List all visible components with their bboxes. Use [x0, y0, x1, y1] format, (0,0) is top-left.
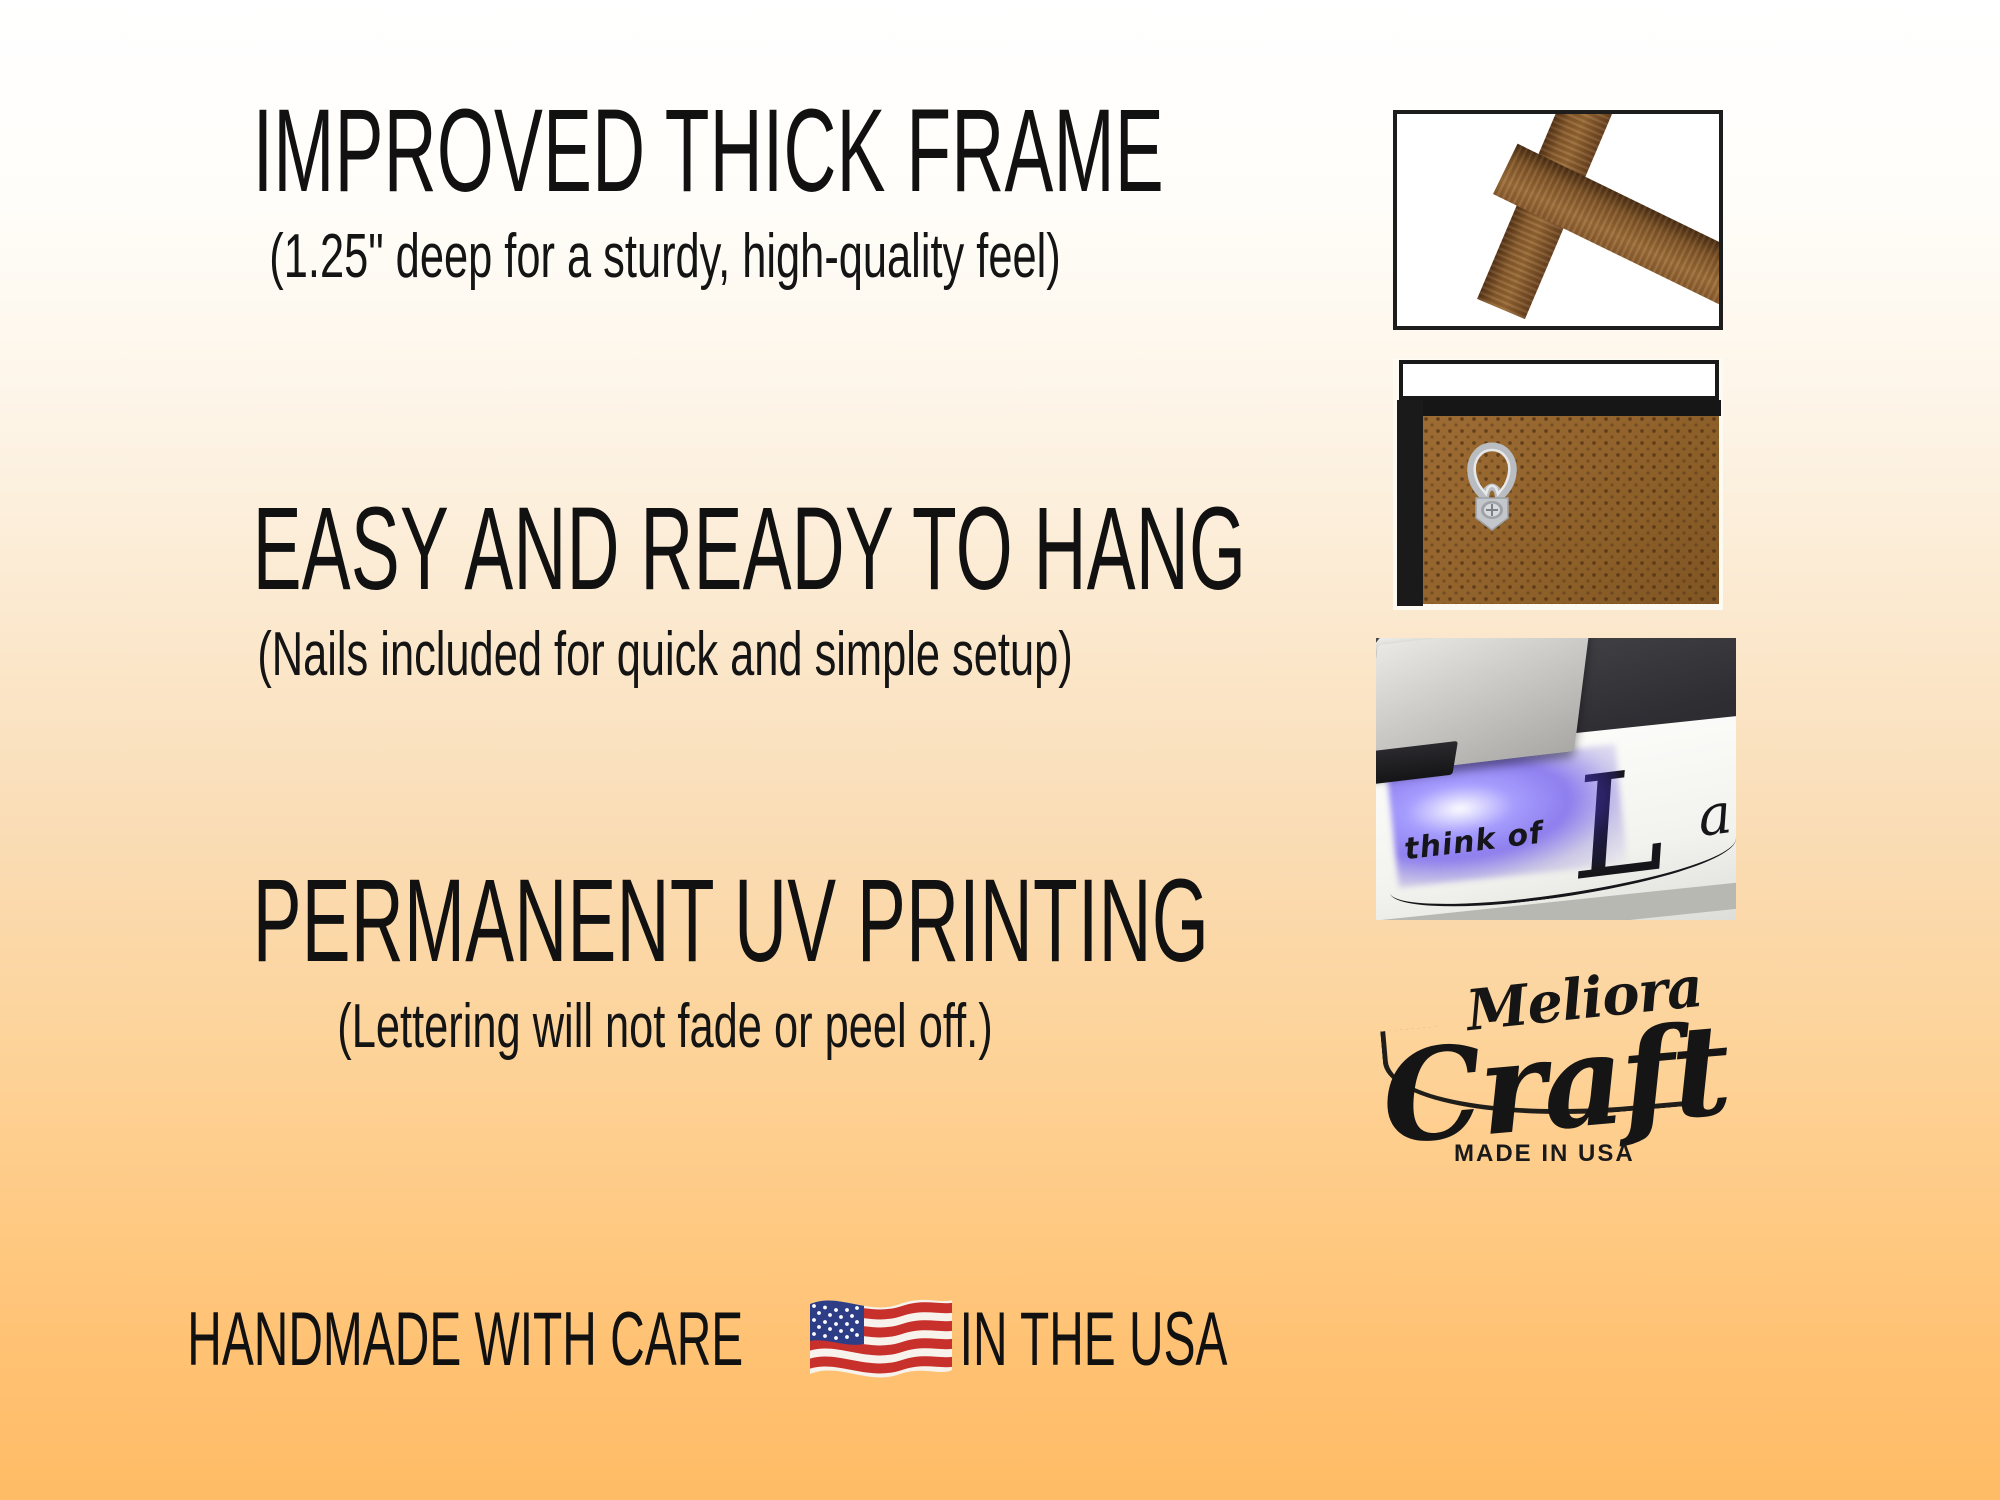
frame-back-left-rail	[1397, 400, 1423, 606]
product-photos-column: L a think of Meliora Craft MADE IN USA	[1330, 0, 2000, 1500]
photo-frame-back-hanger	[1393, 358, 1723, 610]
feature-block-thick-frame: IMPROVED THICK FRAME (1.25" deep for a s…	[0, 92, 1330, 288]
frame-back-top-edge	[1399, 360, 1719, 400]
features-column: IMPROVED THICK FRAME (1.25" deep for a s…	[0, 0, 1330, 1500]
usa-flag-icon	[806, 1292, 956, 1388]
footer-text-after-flag: IN THE USA	[960, 1302, 1228, 1378]
feature-block-ready-to-hang: EASY AND READY TO HANG (Nails included f…	[0, 490, 1330, 686]
photo-frame-corner	[1393, 110, 1723, 330]
feature-subtitle: (1.25" deep for a sturdy, high-quality f…	[200, 210, 1131, 288]
uv-print-letter-a: a	[1695, 786, 1735, 846]
handmade-in-usa-footer: HANDMADE WITH CARE	[0, 1292, 1330, 1388]
frame-back-black-bar	[1397, 400, 1721, 416]
product-feature-infographic: IMPROVED THICK FRAME (1.25" deep for a s…	[0, 0, 2000, 1500]
photo-uv-printer: L a think of	[1376, 638, 1736, 920]
feature-headline: PERMANENT UV PRINTING	[253, 862, 1078, 980]
brand-logo: Meliora Craft MADE IN USA	[1358, 952, 1778, 1182]
footer-text-before-flag: HANDMADE WITH CARE	[187, 1302, 743, 1378]
d-ring-hanger-icon	[1457, 440, 1527, 540]
frame-backing-board	[1423, 416, 1719, 604]
logo-tagline: MADE IN USA	[1454, 1140, 1635, 1168]
feature-subtitle: (Nails included for quick and simple set…	[200, 608, 1131, 686]
feature-block-uv-printing: PERMANENT UV PRINTING (Lettering will no…	[0, 862, 1330, 1058]
feature-subtitle: (Lettering will not fade or peel off.)	[200, 980, 1131, 1058]
feature-headline: EASY AND READY TO HANG	[253, 490, 1078, 608]
feature-headline: IMPROVED THICK FRAME	[253, 92, 1078, 210]
